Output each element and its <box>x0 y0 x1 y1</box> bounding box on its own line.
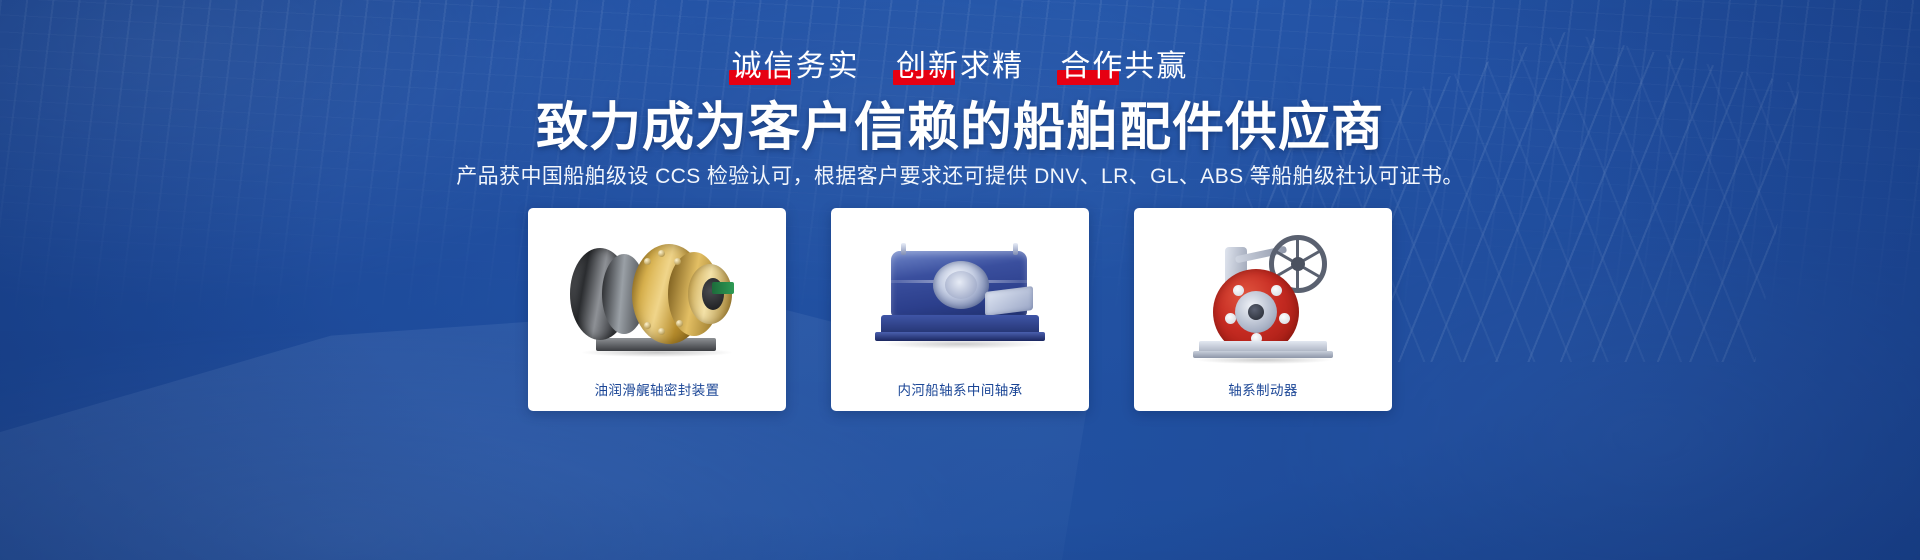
tagline-phrase-3: 合作共赢 <box>1057 50 1191 84</box>
intermediate-bearing-photo <box>839 218 1081 370</box>
tagline-phrase-3-label: 合作共赢 <box>1060 50 1188 83</box>
banner-headline: 致力成为客户信赖的船舶配件供应商 <box>0 98 1920 158</box>
shaft-brake-photo <box>1142 218 1384 370</box>
banner-subtitle: 产品获中国船舶级设 CCS 检验认可，根据客户要求还可提供 DNV、LR、GL、… <box>0 163 1920 191</box>
tagline-phrase-2-label: 创新求精 <box>896 50 1024 83</box>
tagline: 诚信务实 创新求精 合作共赢 <box>0 50 1920 84</box>
product-card-caption: 油润滑艉轴密封装置 <box>594 370 719 411</box>
product-card-caption: 轴系制动器 <box>1228 370 1298 411</box>
hero-banner: 诚信务实 创新求精 合作共赢 致力成为客户信赖的船舶配件供应商 产品获中国船舶级… <box>0 0 1920 560</box>
product-card[interactable]: 轴系制动器 <box>1134 208 1392 411</box>
stern-shaft-seal-photo <box>536 218 778 370</box>
product-card-caption: 内河船轴系中间轴承 <box>897 370 1022 411</box>
product-card[interactable]: 油润滑艉轴密封装置 <box>528 208 786 411</box>
product-card[interactable]: 内河船轴系中间轴承 <box>831 208 1089 411</box>
banner-content: 诚信务实 创新求精 合作共赢 致力成为客户信赖的船舶配件供应商 产品获中国船舶级… <box>0 0 1920 560</box>
tagline-phrase-1-label: 诚信务实 <box>732 50 860 83</box>
tagline-phrase-2: 创新求精 <box>893 50 1027 84</box>
tagline-phrase-1: 诚信务实 <box>729 50 863 84</box>
product-card-list: 油润滑艉轴密封装置 <box>528 208 1392 411</box>
